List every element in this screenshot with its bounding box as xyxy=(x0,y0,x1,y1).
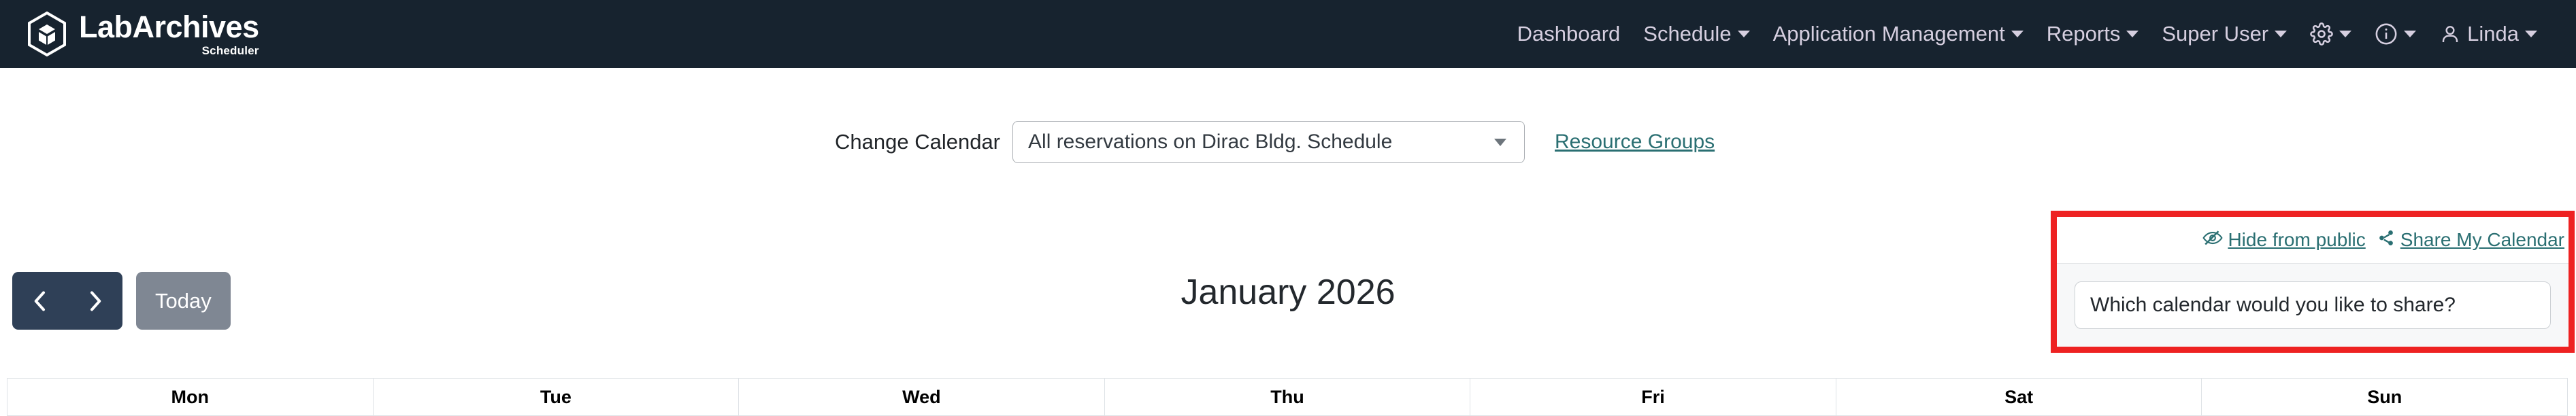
gear-icon xyxy=(2310,22,2333,46)
chevron-down-icon xyxy=(1738,31,1750,37)
weekday-header-cell: Thu xyxy=(1105,379,1471,416)
calendar-select[interactable]: All reservations on Dirac Bldg. Schedule xyxy=(1012,121,1525,163)
weekday-header-cell: Wed xyxy=(739,379,1105,416)
weekday-header-cell: Mon xyxy=(7,379,374,416)
chevron-down-icon xyxy=(1494,139,1506,146)
nav-item-label: Dashboard xyxy=(1517,22,1621,46)
chevron-down-icon xyxy=(2339,31,2351,37)
nav-item-settings[interactable] xyxy=(2298,18,2363,50)
nav-item-label: Super User xyxy=(2162,22,2268,46)
hide-from-public-link[interactable]: Hide from public xyxy=(2202,229,2365,252)
eye-slash-icon xyxy=(2202,229,2223,252)
brand-subtitle: Scheduler xyxy=(202,45,259,56)
main-nav: Dashboard Schedule Application Managemen… xyxy=(1506,18,2549,50)
weekday-header-cell: Sun xyxy=(2202,379,2568,416)
nav-item-schedule[interactable]: Schedule xyxy=(1632,18,1761,50)
share-links-row: Hide from public Share My Calendar xyxy=(2057,217,2569,263)
nav-item-label: Reports xyxy=(2047,22,2121,46)
chevron-down-icon xyxy=(2011,31,2024,37)
nav-item-application-management[interactable]: Application Management xyxy=(1762,18,2035,50)
nav-item-info[interactable] xyxy=(2363,18,2428,50)
chevron-down-icon xyxy=(2525,31,2537,37)
hide-from-public-label: Hide from public xyxy=(2228,229,2365,251)
nav-item-dashboard[interactable]: Dashboard xyxy=(1506,18,1632,50)
share-panel-body: Which calendar would you like to share? xyxy=(2057,263,2569,347)
nav-item-label: Schedule xyxy=(1643,22,1731,46)
next-month-button[interactable] xyxy=(67,272,122,330)
calendar-select-value: All reservations on Dirac Bldg. Schedule xyxy=(1028,131,1392,154)
share-calendar-panel: Hide from public Share My Calendar Which… xyxy=(2051,211,2575,353)
weekday-header-cell: Tue xyxy=(374,379,740,416)
month-nav-controls: Today xyxy=(12,272,231,330)
brand-logo-link[interactable]: LabArchives Scheduler xyxy=(26,11,259,57)
prev-next-button-group xyxy=(12,272,122,330)
previous-month-button[interactable] xyxy=(12,272,67,330)
chevron-down-icon xyxy=(2126,31,2139,37)
change-calendar-label: Change Calendar xyxy=(835,130,1000,154)
share-calendar-input[interactable]: Which calendar would you like to share? xyxy=(2075,281,2551,329)
share-calendar-input-value: Which calendar would you like to share? xyxy=(2090,294,2456,317)
nav-item-reports[interactable]: Reports xyxy=(2035,18,2151,50)
share-my-calendar-link[interactable]: Share My Calendar xyxy=(2377,229,2564,252)
brand-title: LabArchives xyxy=(79,12,259,42)
weekday-header-cell: Sat xyxy=(1836,379,2202,416)
hexagon-cube-icon xyxy=(26,11,68,57)
nav-item-label: Linda xyxy=(2467,22,2519,46)
nav-item-user-linda[interactable]: Linda xyxy=(2428,18,2549,50)
chevron-down-icon xyxy=(2404,31,2416,37)
nav-item-super-user[interactable]: Super User xyxy=(2150,18,2298,50)
chevron-right-icon xyxy=(85,287,105,315)
chevron-down-icon xyxy=(2275,31,2287,37)
resource-groups-link[interactable]: Resource Groups xyxy=(1555,131,1715,154)
weekday-header-cell: Fri xyxy=(1470,379,1836,416)
today-button[interactable]: Today xyxy=(136,272,231,330)
user-icon xyxy=(2439,23,2461,45)
top-navbar: LabArchives Scheduler Dashboard Schedule… xyxy=(0,0,2576,68)
chevron-left-icon xyxy=(30,287,50,315)
calendar-weekday-header: Mon Tue Wed Thu Fri Sat Sun xyxy=(7,378,2568,416)
nav-item-label: Application Management xyxy=(1773,22,2005,46)
change-calendar-row: Change Calendar All reservations on Dira… xyxy=(835,121,1715,163)
info-circle-icon xyxy=(2375,22,2398,46)
share-my-calendar-label: Share My Calendar xyxy=(2400,229,2564,251)
share-nodes-icon xyxy=(2377,229,2396,252)
